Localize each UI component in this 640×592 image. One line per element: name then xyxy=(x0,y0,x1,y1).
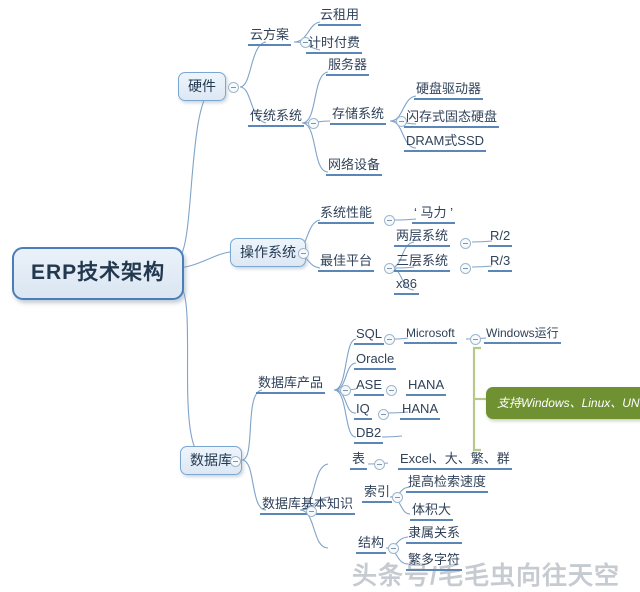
branch-node-operating-system[interactable]: 操作系统 xyxy=(230,238,306,267)
collapse-toggle-sql[interactable] xyxy=(384,334,395,345)
node-r3[interactable]: R/3 xyxy=(488,254,512,272)
node-horsepower[interactable]: ‘ 马力 ’ xyxy=(412,206,455,224)
mindmap-canvas: ERP技术架构 硬件 操作系统 数据库 云方案 云租用 计时付费 传统系统 服务… xyxy=(0,0,640,588)
collapse-toggle-traditional-system[interactable] xyxy=(308,118,319,129)
node-faster-retrieval[interactable]: 提高检索速度 xyxy=(406,475,488,493)
collapse-toggle-three-tier-system[interactable] xyxy=(460,263,471,274)
node-best-platform[interactable]: 最佳平台 xyxy=(318,254,374,272)
collapse-toggle-structure[interactable] xyxy=(388,543,399,554)
collapse-toggle-operating-system[interactable] xyxy=(298,248,309,259)
node-x86[interactable]: x86 xyxy=(394,277,419,295)
collapse-toggle-two-tier-system[interactable] xyxy=(460,238,471,249)
node-many-characters[interactable]: 繁多字符 xyxy=(406,553,462,571)
node-r2[interactable]: R/2 xyxy=(488,229,512,247)
collapse-toggle-microsoft[interactable] xyxy=(470,334,481,345)
collapse-toggle-database-products[interactable] xyxy=(340,385,351,396)
node-structure[interactable]: 结构 xyxy=(356,536,386,554)
node-table[interactable]: 表 xyxy=(350,452,367,470)
node-oracle[interactable]: Oracle xyxy=(354,352,396,370)
node-database-products[interactable]: 数据库产品 xyxy=(256,376,325,394)
node-cloud-solution[interactable]: 云方案 xyxy=(248,28,291,46)
node-hard-disk-drive[interactable]: 硬盘驱动器 xyxy=(414,82,483,100)
node-server[interactable]: 服务器 xyxy=(326,58,369,76)
note-supported-platforms[interactable]: 支持Windows、Linux、UNIX xyxy=(486,387,640,419)
node-large-volume[interactable]: 体积大 xyxy=(410,503,453,521)
node-flash-ssd[interactable]: 闪存式固态硬盘 xyxy=(404,110,499,128)
node-three-tier-system[interactable]: 三层系统 xyxy=(394,254,450,272)
watermark: 头条号/毛毛虫向往天空 xyxy=(352,556,620,592)
collapse-toggle-hardware[interactable] xyxy=(228,82,239,93)
node-traditional-system[interactable]: 传统系统 xyxy=(248,109,304,127)
collapse-toggle-iq[interactable] xyxy=(378,409,389,420)
collapse-toggle-system-performance[interactable] xyxy=(384,215,395,226)
node-db2[interactable]: DB2 xyxy=(354,426,383,444)
branch-node-hardware[interactable]: 硬件 xyxy=(178,72,226,101)
node-network-device[interactable]: 网络设备 xyxy=(326,158,382,176)
node-ase[interactable]: ASE xyxy=(354,378,384,396)
node-iq[interactable]: IQ xyxy=(354,402,372,420)
node-cloud-rental[interactable]: 云租用 xyxy=(318,8,361,26)
node-sql[interactable]: SQL xyxy=(354,327,384,345)
node-system-performance[interactable]: 系统性能 xyxy=(318,206,374,224)
node-table-examples[interactable]: Excel、大、繁、群 xyxy=(398,452,512,470)
node-hana-ase[interactable]: HANA xyxy=(406,378,446,396)
node-storage-system[interactable]: 存储系统 xyxy=(330,107,386,125)
root-node[interactable]: ERP技术架构 xyxy=(12,247,184,300)
node-dram-ssd[interactable]: DRAM式SSD xyxy=(404,134,486,152)
node-affiliation[interactable]: 隶属关系 xyxy=(406,526,462,544)
node-two-tier-system[interactable]: 两层系统 xyxy=(394,229,450,247)
node-hourly-billing[interactable]: 计时付费 xyxy=(306,36,362,54)
collapse-toggle-index[interactable] xyxy=(392,492,403,503)
collapse-toggle-database[interactable] xyxy=(230,456,241,467)
collapse-toggle-table[interactable] xyxy=(374,459,385,470)
node-hana-iq[interactable]: HANA xyxy=(400,402,440,420)
node-microsoft[interactable]: Microsoft xyxy=(404,327,457,344)
node-index[interactable]: 索引 xyxy=(362,485,392,503)
node-windows-run[interactable]: Windows运行 xyxy=(484,327,561,344)
collapse-toggle-ase[interactable] xyxy=(386,385,397,396)
collapse-toggle-database-basics[interactable] xyxy=(306,506,317,517)
